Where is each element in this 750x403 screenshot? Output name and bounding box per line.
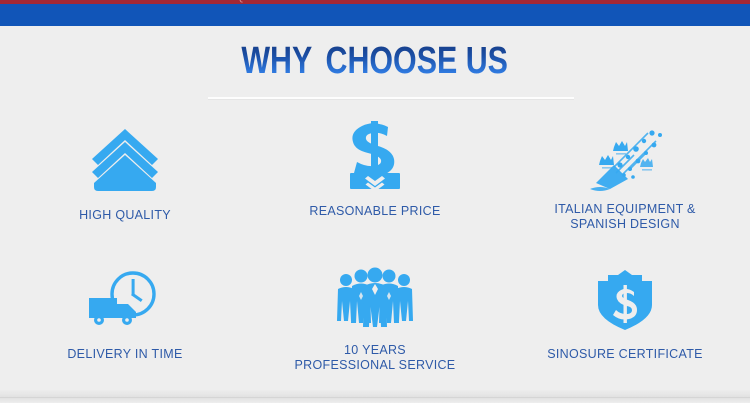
top-strip-clipped-text: RELIABLE QUALITY · PROFESSIONAL SERVICE … (0, 0, 750, 3)
feature-label: REASONABLE PRICE (309, 204, 440, 219)
feature-item-professional-service: 10 YEARS PROFESSIONAL SERVICE (250, 247, 500, 382)
feature-label: 10 YEARS PROFESSIONAL SERVICE (295, 343, 456, 373)
section-heading: WHY CHOOSE US (0, 40, 750, 82)
dollar-pedestal-icon (344, 112, 406, 198)
page-title: WHY CHOOSE US (242, 40, 509, 82)
feature-label: SINOSURE CERTIFICATE (547, 347, 703, 362)
feature-item-delivery-in-time: DELIVERY IN TIME (0, 247, 250, 382)
bottom-shadow (0, 389, 750, 403)
team-people-icon (335, 247, 415, 339)
heading-space (313, 40, 326, 82)
heading-divider (208, 97, 574, 99)
feature-label: DELIVERY IN TIME (67, 347, 182, 362)
bottom-divider (0, 397, 750, 398)
truck-clock-icon (87, 247, 163, 341)
feature-item-italian-equipment: ITALIAN EQUIPMENT & SPANISH DESIGN (500, 112, 750, 247)
why-choose-us-section: RELIABLE QUALITY · PROFESSIONAL SERVICE … (0, 0, 750, 403)
feature-item-reasonable-price: REASONABLE PRICE (250, 112, 500, 247)
feature-item-high-quality: HIGH QUALITY (0, 112, 250, 247)
heading-word-choose-us: CHOOSE US (326, 40, 508, 82)
features-grid: HIGH QUALITY (0, 112, 750, 382)
shield-dollar-icon (596, 247, 654, 341)
feature-item-sinosure-certificate: SINOSURE CERTIFICATE (500, 247, 750, 382)
confetti-popper-icon (586, 112, 664, 198)
feature-label: ITALIAN EQUIPMENT & SPANISH DESIGN (554, 202, 695, 232)
feature-label: HIGH QUALITY (79, 208, 171, 223)
top-blue-strip (0, 4, 750, 26)
chevron-stack-icon (90, 112, 160, 202)
heading-word-why: WHY (242, 40, 313, 82)
